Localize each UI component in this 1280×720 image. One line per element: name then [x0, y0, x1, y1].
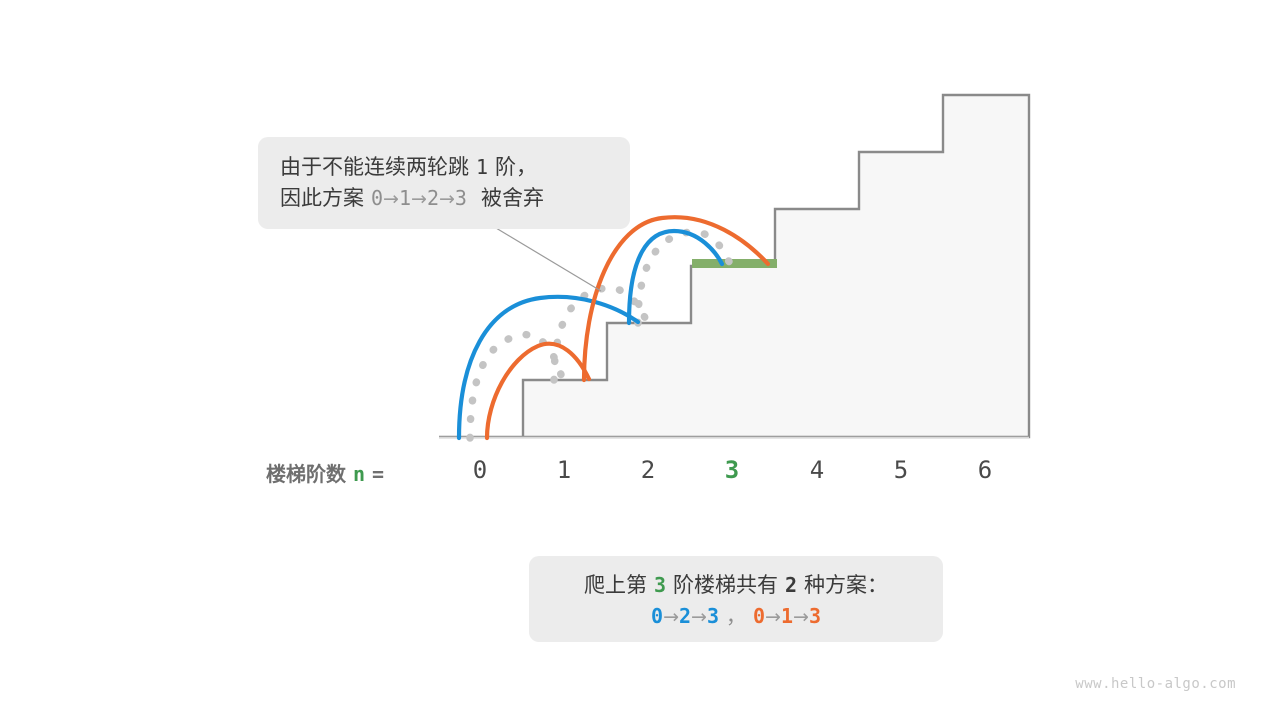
discard-path-node-2: 2 — [427, 186, 439, 210]
callout-discard-line1-suffix: 阶， — [495, 156, 537, 179]
callout-leader-line — [496, 228, 601, 291]
callout-discard-line2-suffix: 被舍弃 — [481, 187, 544, 210]
blue-path-node-2: 3 — [707, 604, 719, 628]
summary-line2: 0→2→3，0→1→3 — [529, 601, 943, 633]
discard-path-arrow-1: → — [383, 188, 399, 210]
summary-step-number: 3 — [654, 573, 666, 597]
axis-tick-6: 6 — [965, 456, 1005, 484]
blue-path-arrow-1: → — [663, 606, 679, 628]
axis-tick-0: 0 — [460, 456, 500, 484]
axis-tick-4: 4 — [797, 456, 837, 484]
callout-discard-line2: 因此方案0→1→2→3被舍弃 — [280, 183, 608, 215]
summary-count: 2 — [785, 573, 797, 597]
orange-path-node-2: 3 — [809, 604, 821, 628]
summary-line1-suffix: 种方案： — [804, 574, 888, 597]
orange-path-node-1: 1 — [781, 604, 793, 628]
callout-solution-summary: 爬上第3阶楼梯共有2种方案： 0→2→3，0→1→3 — [529, 556, 943, 642]
summary-line1-prefix: 爬上第 — [584, 574, 647, 597]
orange-path-arrow-2: → — [793, 606, 809, 628]
axis-equals-symbol: = — [372, 462, 384, 486]
orange-path-arrow-1: → — [765, 606, 781, 628]
axis-row: 楼梯阶数n= 0 1 2 3 4 5 6 — [0, 458, 1280, 492]
axis-tick-5: 5 — [881, 456, 921, 484]
blue-path-node-1: 2 — [679, 604, 691, 628]
axis-tick-2: 2 — [628, 456, 668, 484]
axis-tick-3: 3 — [712, 456, 752, 484]
callout-discard-line1-num: 1 — [476, 155, 488, 179]
discard-path-node-0: 0 — [371, 186, 383, 210]
orange-path-node-0: 0 — [753, 604, 765, 628]
discard-path-arrow-2: → — [411, 188, 427, 210]
axis-variable-symbol: n — [353, 462, 365, 486]
callout-discard-line2-prefix: 因此方案 — [280, 187, 364, 210]
discard-path-node-3: 3 — [455, 186, 467, 210]
blue-path-arrow-2: → — [691, 606, 707, 628]
summary-line1-mid: 阶楼梯共有 — [673, 574, 778, 597]
callout-discard-line1: 由于不能连续两轮跳1阶， — [280, 152, 608, 183]
axis-label: 楼梯阶数n= — [266, 458, 384, 487]
discard-path-arrow-3: → — [439, 188, 455, 210]
axis-label-text: 楼梯阶数 — [266, 464, 346, 486]
callout-discarded-plan: 由于不能连续两轮跳1阶， 因此方案0→1→2→3被舍弃 — [258, 137, 630, 229]
discard-path-node-1: 1 — [399, 186, 411, 210]
watermark: www.hello-algo.com — [1075, 676, 1236, 692]
axis-tick-1: 1 — [544, 456, 584, 484]
summary-separator: ， — [726, 604, 746, 628]
callout-discard-line1-prefix: 由于不能连续两轮跳 — [280, 156, 469, 179]
summary-line1: 爬上第3阶楼梯共有2种方案： — [529, 570, 943, 601]
blue-path-node-0: 0 — [651, 604, 663, 628]
